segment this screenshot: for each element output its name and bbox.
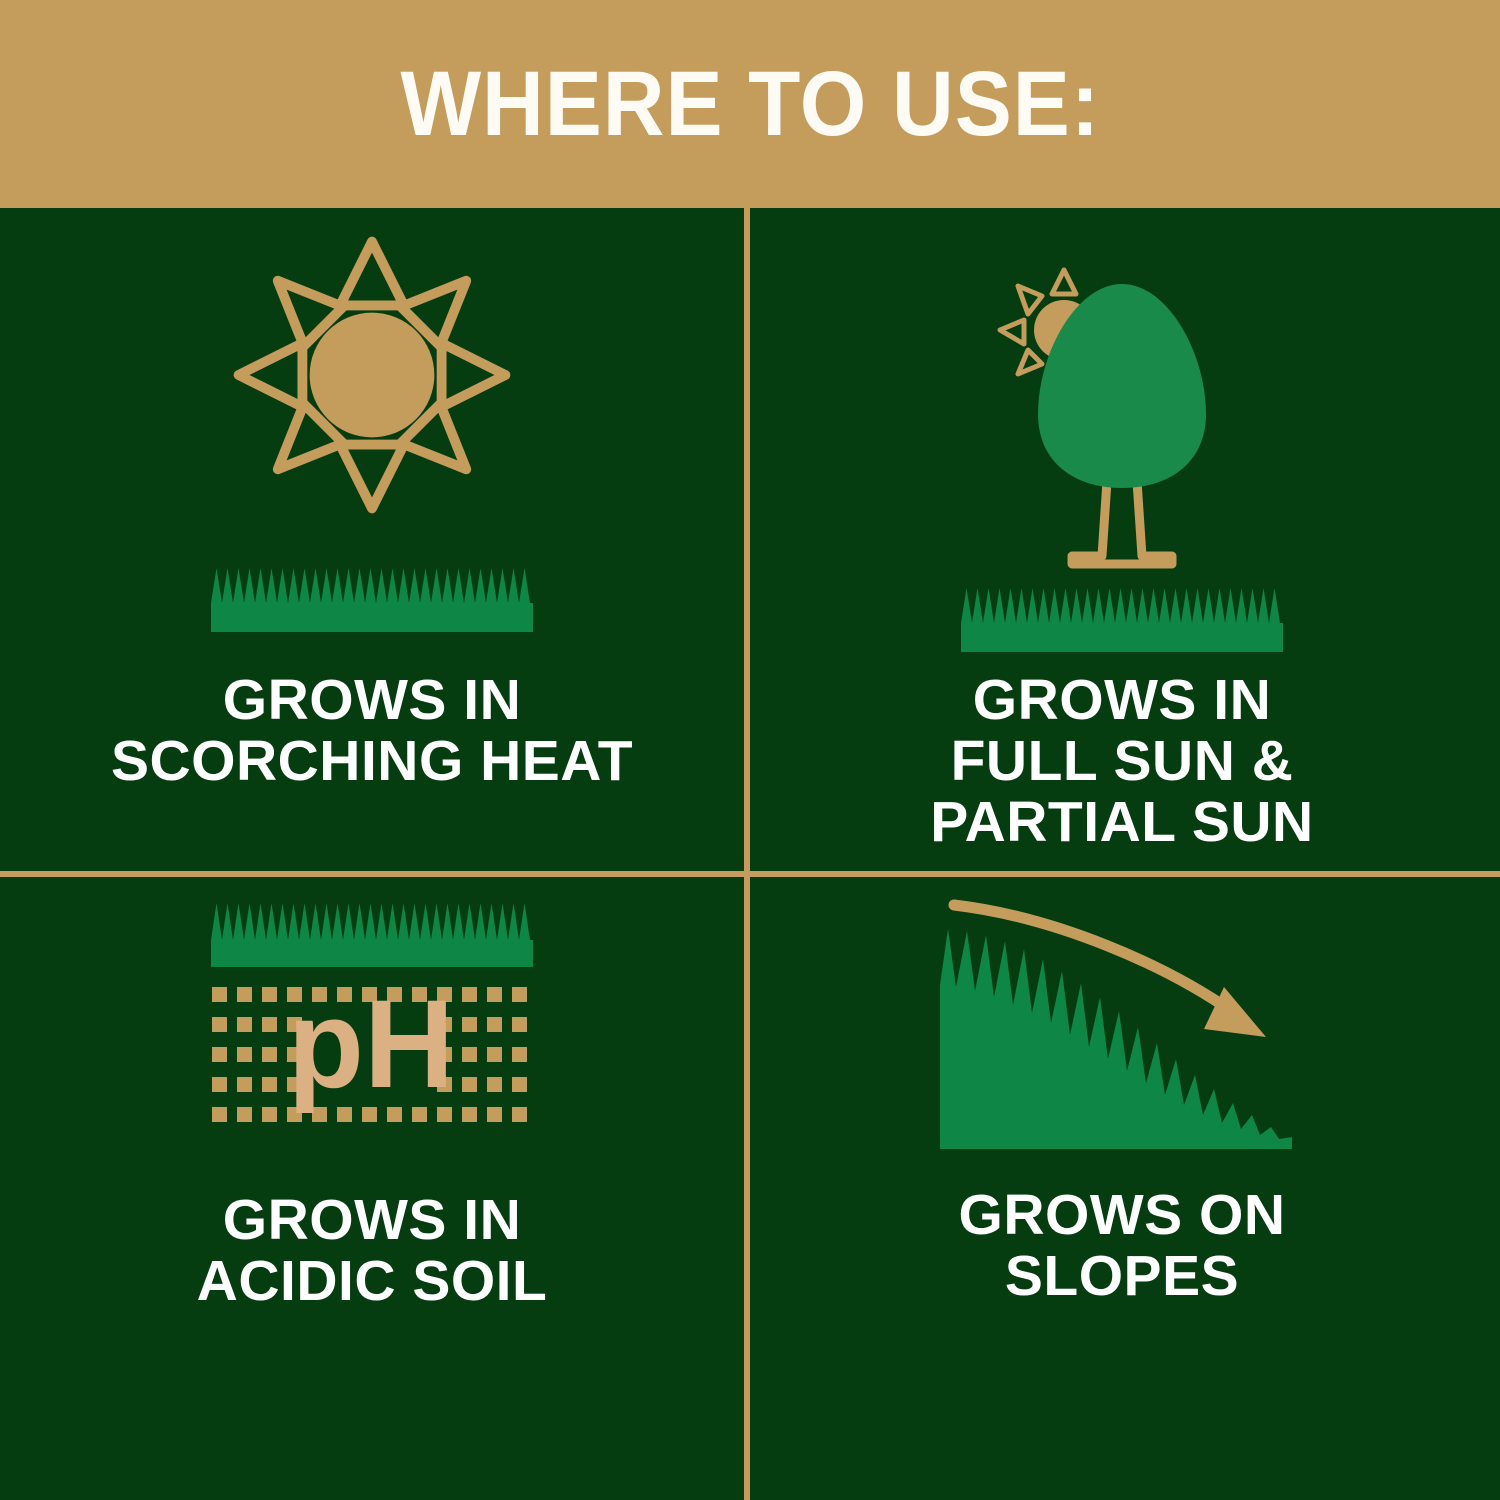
grass-icon: [211, 558, 533, 632]
grass-icon: [961, 578, 1283, 652]
slopes-artwork: [750, 877, 1494, 1167]
ph-label: pH: [288, 975, 455, 1114]
quadrant-full-partial-sun: GROWS IN FULL SUN & PARTIAL SUN: [750, 208, 1494, 871]
full-partial-sun-artwork: [750, 208, 1494, 668]
quadrant-grid: GROWS IN SCORCHING HEAT: [0, 208, 1500, 1500]
page-title: WHERE TO USE:: [400, 58, 1100, 150]
full-partial-sun-label: GROWS IN FULL SUN & PARTIAL SUN: [920, 670, 1323, 853]
acidic-soil-label: GROWS IN ACIDIC SOIL: [187, 1190, 558, 1312]
infographic-page: WHERE TO USE:: [0, 0, 1500, 1500]
acidic-soil-artwork: pH: [0, 877, 744, 1162]
grass-icon: [211, 903, 533, 967]
sun-icon: [227, 230, 517, 520]
slopes-label: GROWS ON SLOPES: [949, 1185, 1296, 1307]
quadrant-acidic-soil: pH GROWS IN ACIDIC SOIL: [0, 877, 744, 1500]
tree-icon: [990, 266, 1254, 574]
slope-grass-icon: [936, 887, 1308, 1159]
soil-dots-icon: pH: [206, 895, 538, 1147]
quadrant-scorching-heat: GROWS IN SCORCHING HEAT: [0, 208, 744, 871]
quadrant-slopes: GROWS ON SLOPES: [750, 877, 1494, 1500]
scorching-heat-label: GROWS IN SCORCHING HEAT: [101, 670, 643, 792]
header-banner: WHERE TO USE:: [0, 0, 1500, 208]
scorching-heat-artwork: [0, 208, 744, 668]
